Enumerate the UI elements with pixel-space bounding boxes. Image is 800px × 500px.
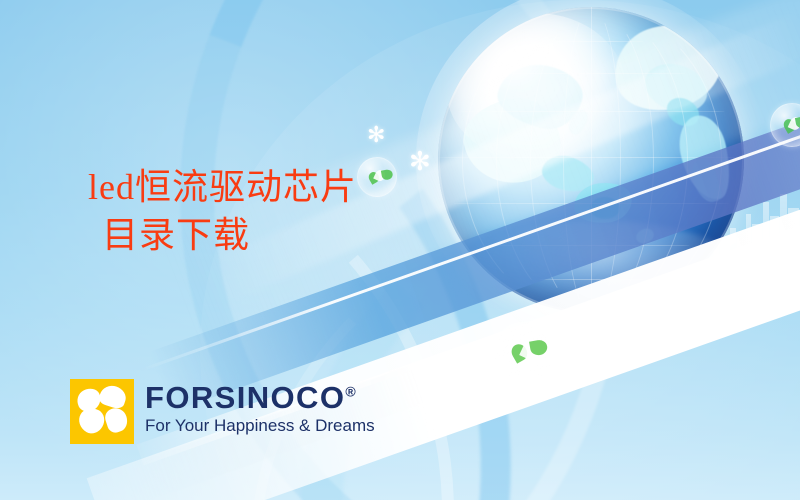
registered-trademark-icon: ® xyxy=(345,384,355,400)
pinwheel-petal xyxy=(97,382,128,410)
skyline-building xyxy=(770,216,779,294)
bubble-leaf xyxy=(781,117,797,133)
globe-base-glow xyxy=(454,221,746,329)
bubble-leaf xyxy=(367,170,381,185)
headline: led恒流驱动芯片 目录下载 xyxy=(88,163,357,259)
bubble-leaf xyxy=(509,341,531,364)
bubble-leaf xyxy=(380,168,393,180)
brand-name: FORSINOCO® xyxy=(145,382,375,413)
bubble-small-left xyxy=(357,157,397,197)
sparkle-asterisk-upper: ✻ xyxy=(367,124,385,146)
pinwheel-petal xyxy=(103,405,130,434)
logo-wordmark: FORSINOCO® For Your Happiness & Dreams xyxy=(145,379,375,436)
bubble-leaf xyxy=(519,339,540,361)
skyline-building xyxy=(788,208,799,294)
headline-line-2: 目录下载 xyxy=(88,211,357,259)
skyline-building xyxy=(763,202,769,294)
company-logo[interactable]: FORSINOCO® For Your Happiness & Dreams xyxy=(70,379,375,444)
headline-line-1: led恒流驱动芯片 xyxy=(88,163,357,211)
pinwheel-flower-icon xyxy=(70,379,134,444)
bubble-right-edge xyxy=(770,103,800,147)
skyline-building xyxy=(780,194,787,294)
banner-canvas: ✻✻ led恒流驱动芯片 目录下载 FORSINOCO® For Your Ha… xyxy=(0,0,800,500)
bubble-leaf xyxy=(788,116,800,132)
earth-globe xyxy=(438,7,744,313)
brand-name-text: FORSINOCO xyxy=(145,380,345,415)
brand-tagline: For Your Happiness & Dreams xyxy=(145,416,375,436)
bubble-leaf xyxy=(795,116,800,129)
bubble-large-center xyxy=(494,322,554,382)
bubble-leaf xyxy=(529,339,549,357)
bubble-leaf xyxy=(374,169,388,183)
skyline-building xyxy=(752,224,762,294)
